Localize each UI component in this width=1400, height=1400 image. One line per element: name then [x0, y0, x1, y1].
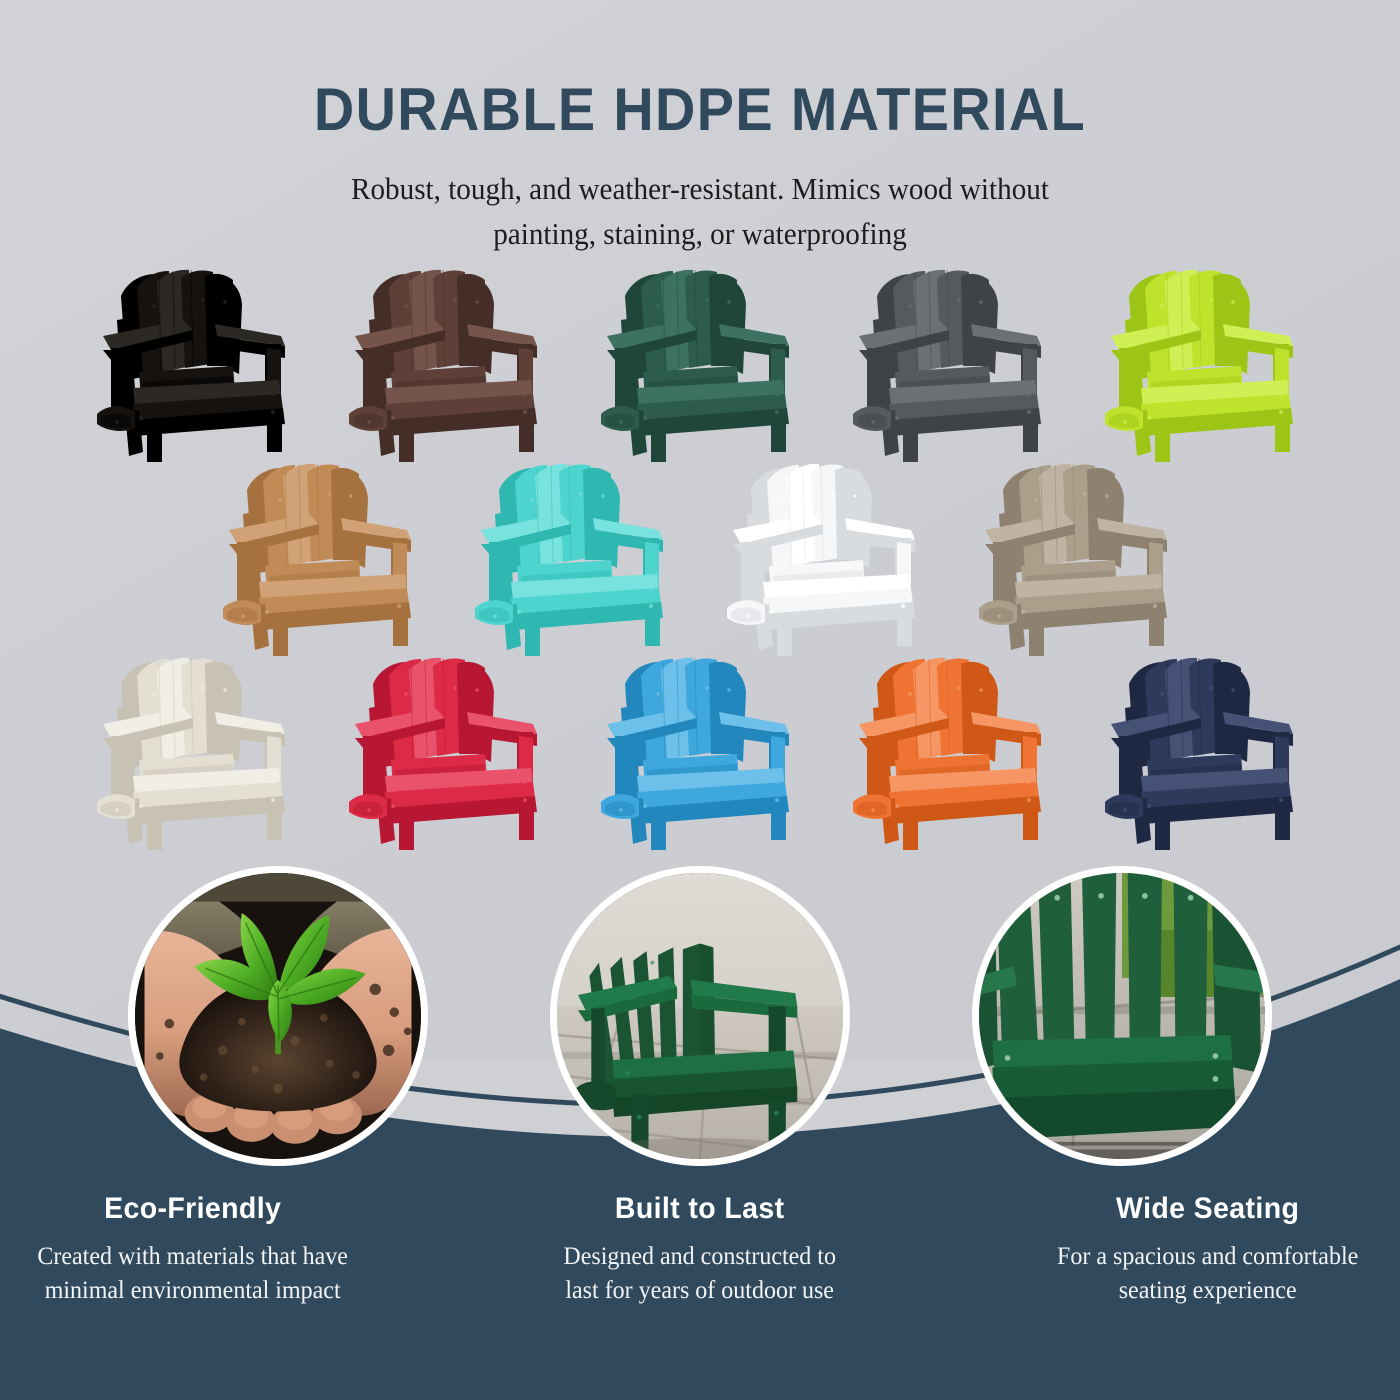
caption-desc-line-1: Created with materials that have: [8, 1240, 378, 1274]
chair-row-2: [0, 456, 1400, 656]
caption-desc-line-1: For a spacious and comfortable: [1022, 1240, 1392, 1274]
chair-illustration: [207, 456, 437, 656]
chair-swatch-ivory[interactable]: [81, 650, 311, 850]
chair-row-1: [0, 262, 1400, 462]
caption-built-to-last: Built to Last Designed and constructed t…: [507, 1192, 892, 1307]
built-to-last-photo: [550, 866, 850, 1166]
chair-swatch-taupe[interactable]: [963, 456, 1193, 656]
chair-swatch-white[interactable]: [711, 456, 941, 656]
caption-title-wide-seating: Wide Seating: [1024, 1192, 1390, 1226]
feature-circles: [0, 866, 1400, 1166]
chair-swatch-teak[interactable]: [207, 456, 437, 656]
chair-swatch-dark-green[interactable]: [585, 262, 815, 462]
caption-desc-built-to-last: Designed and constructed to last for yea…: [515, 1240, 885, 1307]
chair-swatch-lime-green[interactable]: [1089, 262, 1319, 462]
caption-desc-line-1: Designed and constructed to: [515, 1240, 885, 1274]
chair-illustration: [333, 650, 563, 850]
chair-illustration: [711, 456, 941, 656]
infographic-stage: DURABLE HDPE MATERIAL Robust, tough, and…: [0, 0, 1400, 1400]
chair-illustration: [585, 650, 815, 850]
feature-eco-friendly: [128, 866, 428, 1166]
caption-desc-line-2: seating experience: [1022, 1274, 1392, 1308]
subtitle-line-2: painting, staining, or waterproofing: [42, 212, 1358, 257]
chair-illustration: [459, 456, 689, 656]
chair-swatch-light-blue[interactable]: [585, 650, 815, 850]
subtitle-line-1: Robust, tough, and weather-resistant. Mi…: [42, 167, 1358, 212]
caption-desc-eco-friendly: Created with materials that have minimal…: [8, 1240, 378, 1307]
chair-illustration: [963, 456, 1193, 656]
feature-wide-seating: [972, 866, 1272, 1166]
chair-illustration: [837, 650, 1067, 850]
chair-color-grid: [0, 262, 1400, 850]
caption-eco-friendly: Eco-Friendly Created with materials that…: [0, 1192, 385, 1307]
caption-desc-line-2: minimal environmental impact: [8, 1274, 378, 1308]
header: DURABLE HDPE MATERIAL Robust, tough, and…: [0, 0, 1400, 257]
eco-friendly-photo: [128, 866, 428, 1166]
caption-title-built-to-last: Built to Last: [517, 1192, 883, 1226]
caption-desc-line-2: last for years of outdoor use: [515, 1274, 885, 1308]
wide-seating-photo: [972, 866, 1272, 1166]
feature-captions: Eco-Friendly Created with materials that…: [0, 1192, 1400, 1307]
chair-swatch-gray[interactable]: [837, 262, 1067, 462]
chair-row-3: [0, 650, 1400, 850]
chair-illustration: [81, 262, 311, 462]
chair-illustration: [333, 262, 563, 462]
chair-swatch-navy[interactable]: [1089, 650, 1319, 850]
chair-swatch-brown[interactable]: [333, 262, 563, 462]
caption-wide-seating: Wide Seating For a spacious and comforta…: [1015, 1192, 1400, 1307]
feature-built-to-last: [550, 866, 850, 1166]
chair-swatch-red[interactable]: [333, 650, 563, 850]
chair-illustration: [1089, 262, 1319, 462]
chair-swatch-turquoise[interactable]: [459, 456, 689, 656]
chair-swatch-black[interactable]: [81, 262, 311, 462]
chair-illustration: [585, 262, 815, 462]
chair-illustration: [837, 262, 1067, 462]
caption-desc-wide-seating: For a spacious and comfortable seating e…: [1022, 1240, 1392, 1307]
chair-illustration: [1089, 650, 1319, 850]
page-title: DURABLE HDPE MATERIAL: [49, 78, 1351, 141]
chair-illustration: [81, 650, 311, 850]
caption-title-eco-friendly: Eco-Friendly: [10, 1192, 376, 1226]
chair-swatch-orange[interactable]: [837, 650, 1067, 850]
page-subtitle: Robust, tough, and weather-resistant. Mi…: [42, 167, 1358, 257]
